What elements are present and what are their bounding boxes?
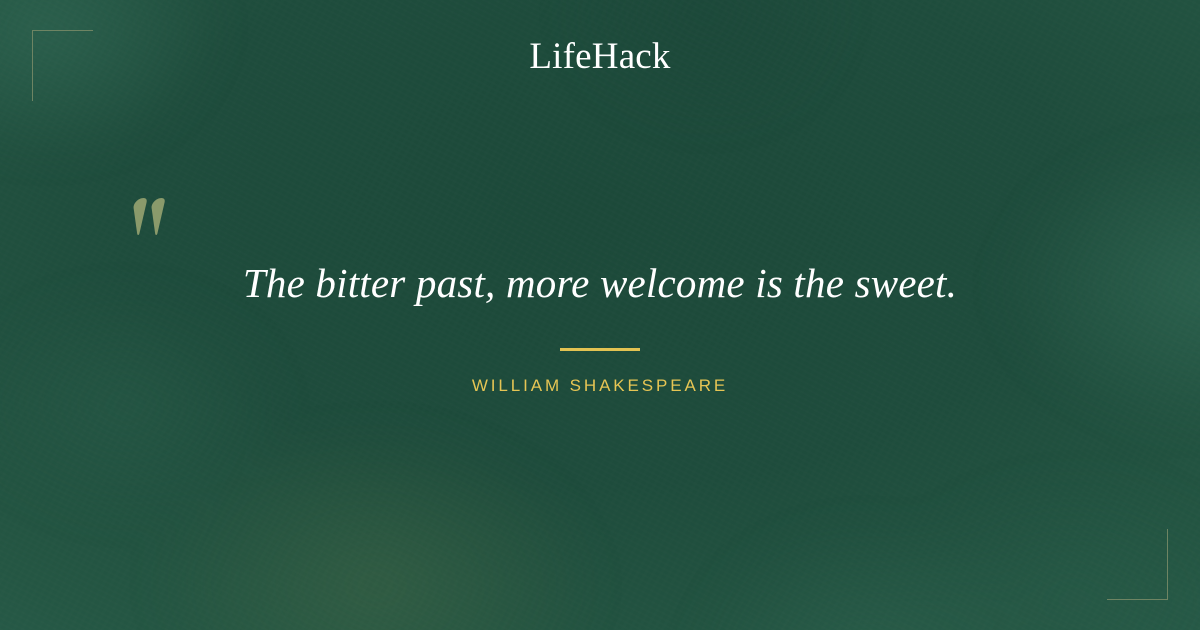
brand-logo-text: LifeHack [529, 36, 670, 77]
double-quote-mark-icon [130, 196, 178, 246]
quote-content: The bitter past, more welcome is the swe… [0, 258, 1200, 396]
brand-logo: LifeHack [0, 38, 1200, 75]
quote-card: LifeHack The bitter past, more welcome i… [0, 0, 1200, 630]
gold-divider [560, 348, 640, 351]
quote-text: The bitter past, more welcome is the swe… [100, 258, 1100, 310]
quote-author: WILLIAM SHAKESPEARE [0, 376, 1200, 396]
